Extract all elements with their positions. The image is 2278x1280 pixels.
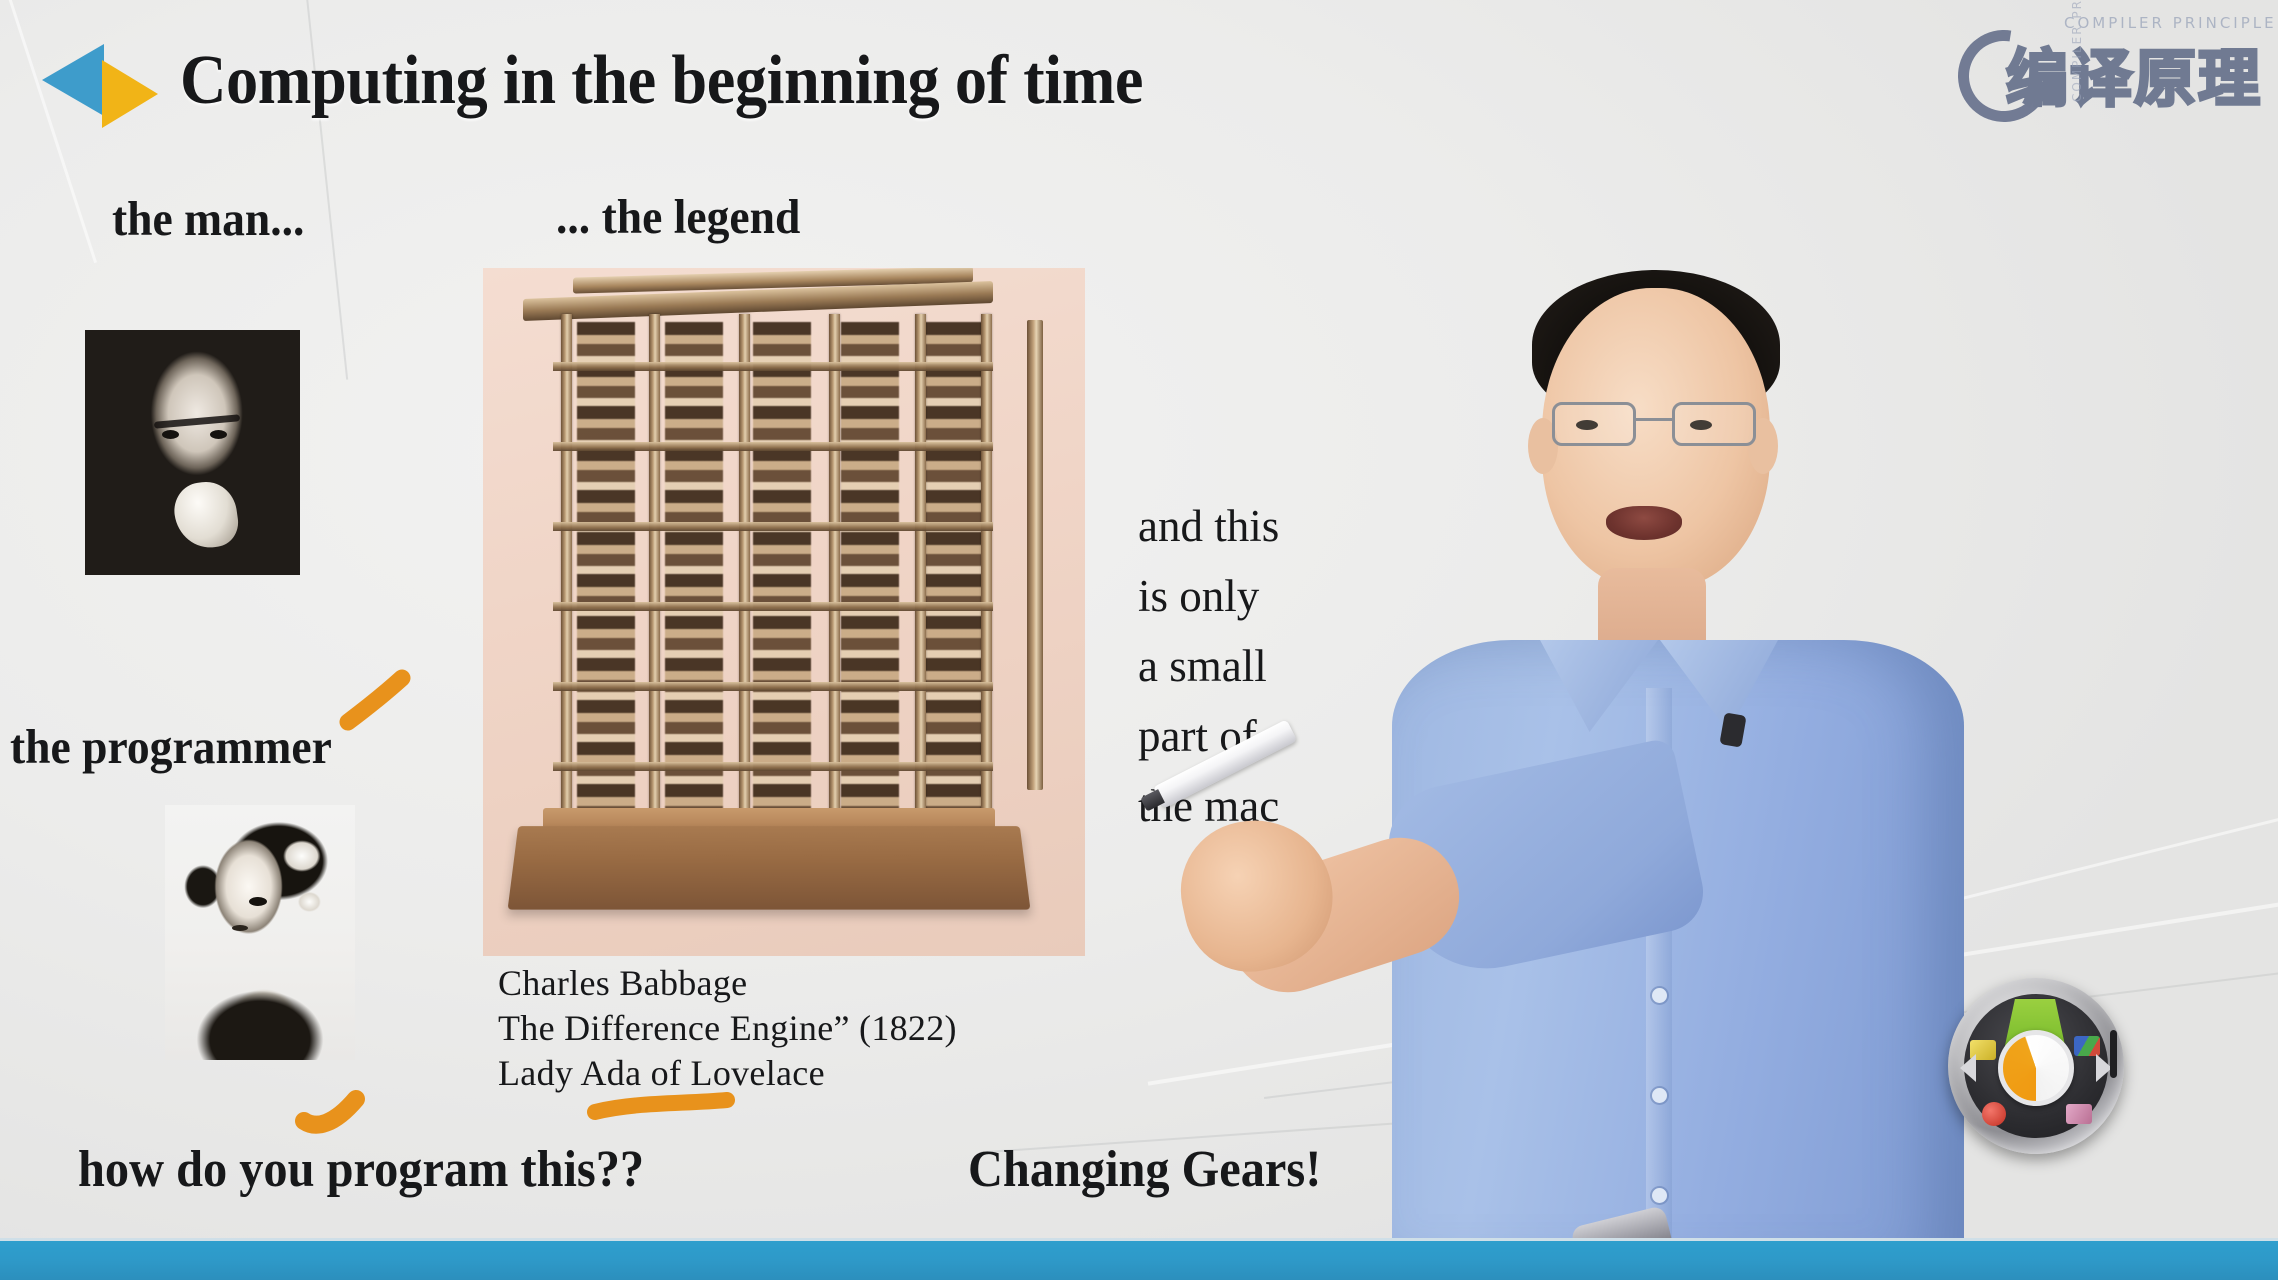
bottom-blue-bar: [0, 1238, 2278, 1280]
prev-slide-arrow-icon[interactable]: [1960, 1054, 1976, 1082]
pink-pen-swatch[interactable]: [2066, 1104, 2092, 1124]
glasses-lens: [1672, 402, 1756, 446]
engine-rail: [553, 602, 993, 611]
glasses-lens: [1552, 402, 1636, 446]
engine-gear-column: [925, 322, 983, 812]
wheel-slot: [2110, 1030, 2117, 1078]
engine-side-column: [1027, 320, 1043, 790]
engine-post: [649, 314, 660, 824]
charles-babbage-portrait: [85, 330, 300, 575]
ada-lovelace-portrait: [165, 805, 355, 1060]
channel-watermark: COMPILER PRINCIPLE 编译原理 COMPILER PRINCIP…: [1952, 10, 2252, 150]
shirt-button: [1652, 1088, 1667, 1103]
multicolor-pen-swatch[interactable]: [2074, 1036, 2100, 1056]
portrait-artwork: [165, 805, 355, 1060]
page-title: Computing in the beginning of time: [180, 41, 1143, 121]
red-pen-swatch[interactable]: [1982, 1102, 2006, 1126]
presenter-figure: [1330, 268, 2030, 1280]
triangle-left-icon: [42, 44, 104, 116]
shirt-button: [1652, 1188, 1667, 1203]
footer-changing-gears: Changing Gears!: [968, 1140, 1321, 1199]
heading-the-legend: ... the legend: [556, 188, 800, 245]
glasses-bridge: [1636, 418, 1672, 421]
annotation-tool-wheel[interactable]: [1948, 978, 2124, 1154]
engine-rail: [553, 362, 993, 371]
color-knob[interactable]: [1998, 1030, 2074, 1106]
engine-gear-column: [841, 322, 899, 812]
label-the-programmer: the programmer: [10, 718, 332, 775]
watermark-chinese: 编译原理: [2006, 28, 2262, 118]
heading-the-man: the man...: [112, 190, 304, 247]
shirt-button: [1652, 988, 1667, 1003]
title-bullet-icon: [40, 38, 158, 124]
difference-engine-photo: [483, 268, 1085, 956]
watermark-english-side: COMPILER PRINCIPLE: [2070, 0, 2084, 102]
engine-gear-column: [753, 322, 811, 812]
engine-post: [739, 314, 750, 824]
caption-line-2: The Difference Engine” (1822): [498, 1007, 957, 1049]
slide-title-row: Computing in the beginning of time: [40, 38, 1227, 124]
engine-post: [829, 314, 840, 824]
engine-rail: [553, 442, 993, 451]
engine-post: [561, 314, 572, 824]
footer-question: how do you program this??: [78, 1140, 644, 1199]
blurb-line-1: and this: [1138, 492, 1279, 560]
engine-gear-column: [665, 322, 723, 812]
portrait-eye: [249, 897, 267, 906]
triangle-right-icon: [102, 60, 158, 128]
blurb-line-3: a small: [1138, 632, 1267, 700]
caption-line-3: Lady Ada of Lovelace: [498, 1052, 825, 1094]
slide-stage: Computing in the beginning of time the m…: [0, 0, 2278, 1280]
engine-rail: [553, 762, 993, 771]
engine-frame: [553, 314, 993, 824]
ink-stroke-near-babbage: [330, 660, 440, 740]
portrait-lips: [232, 925, 248, 931]
engine-wooden-base: [508, 826, 1031, 909]
engine-gear-column: [577, 322, 635, 812]
engine-rail: [553, 682, 993, 691]
presenter-mouth: [1606, 506, 1682, 540]
engine-post: [981, 314, 992, 824]
engine-post: [915, 314, 926, 824]
presenter-glasses: [1548, 402, 1766, 450]
engine-rail: [553, 522, 993, 531]
blurb-line-2: is only: [1138, 562, 1259, 630]
caption-line-1: Charles Babbage: [498, 962, 747, 1004]
